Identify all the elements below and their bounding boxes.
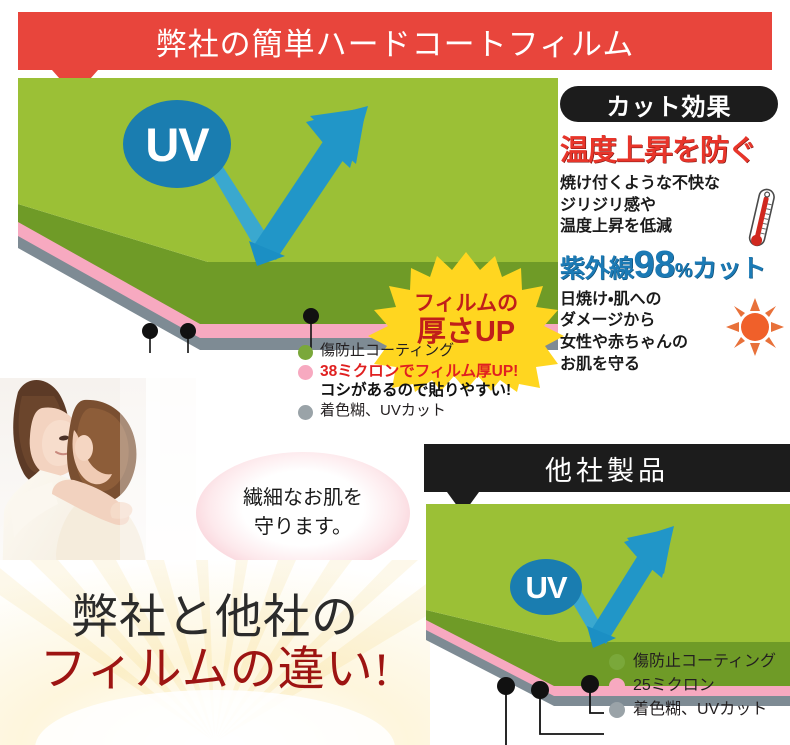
uv-cut-percent: % bbox=[675, 260, 692, 283]
uv-badge-label: UV bbox=[145, 121, 208, 168]
callout-item-coating: 傷防止コーティング bbox=[609, 652, 790, 672]
callout-item-adhesive: 着色糊、UVカット bbox=[298, 402, 558, 421]
sun-icon bbox=[726, 298, 784, 356]
callout-label: 着色糊、UVカット bbox=[320, 402, 446, 421]
green-dot-icon bbox=[298, 345, 313, 360]
uv-badge: UV bbox=[123, 100, 231, 188]
thermometer-icon bbox=[742, 186, 782, 252]
callout-label: 25ミクロン bbox=[633, 676, 715, 696]
temperature-heading: 温度上昇を防ぐ bbox=[560, 127, 786, 169]
callout-label: 傷防止コーティング bbox=[633, 652, 776, 672]
page-title: 弊社の簡単ハードコートフィルム bbox=[156, 19, 635, 64]
gray-dot-icon bbox=[298, 405, 313, 420]
main-film-illustration: UV フィルムの 厚さUP bbox=[10, 78, 558, 353]
callout-item-thickness: 25ミクロン bbox=[609, 676, 790, 696]
competitor-callout-list: 傷防止コーティング 25ミクロン 着色糊、UVカット bbox=[609, 652, 790, 724]
callout-label: 着色糊、UVカット bbox=[633, 700, 767, 720]
callout-item-adhesive: 着色糊、UVカット bbox=[609, 700, 790, 720]
uv-cut-number: 98 bbox=[634, 248, 675, 282]
cut-effect-pill-label: カット効果 bbox=[607, 87, 732, 122]
top-banner: 弊社の簡単ハードコートフィルム bbox=[18, 12, 772, 70]
comparison-headline: 弊社と他社の フィルムの違い! bbox=[0, 594, 430, 697]
bubble-line-1: 繊細なお肌を bbox=[243, 484, 363, 513]
starburst-line-2: 厚さUP bbox=[417, 316, 515, 349]
bubble-line-2: 守ります。 bbox=[254, 513, 352, 542]
starburst-line-1: フィルムの bbox=[414, 292, 518, 316]
skin-protection-bubble: 繊細なお肌を 守ります。 bbox=[196, 452, 410, 574]
cut-effect-pill-badge: カット効果 bbox=[560, 86, 778, 122]
gray-dot-icon bbox=[609, 702, 625, 718]
uv-cut-heading: 紫外線 98 % カット bbox=[560, 248, 786, 285]
uv-cut-suffix: カット bbox=[692, 249, 766, 285]
competitor-header-label: 他社製品 bbox=[545, 449, 669, 488]
competitor-uv-badge-label: UV bbox=[525, 572, 566, 603]
headline-line-2: フィルムの違い! bbox=[0, 645, 430, 697]
competitor-product-panel: 他社製品 bbox=[424, 444, 790, 745]
starburst-text: フィルムの 厚さUP bbox=[368, 250, 564, 392]
competitor-header-bar: 他社製品 bbox=[424, 444, 790, 492]
thickness-up-starburst-badge: フィルムの 厚さUP bbox=[368, 250, 564, 392]
uv-cut-prefix: 紫外線 bbox=[560, 249, 634, 285]
pink-dot-icon bbox=[298, 365, 313, 380]
uv-cut-body-line-4: お肌を守る bbox=[560, 354, 786, 376]
headline-line-1: 弊社と他社の bbox=[0, 594, 430, 643]
cut-effect-panel: カット効果 温度上昇を防ぐ 焼け付くような不快な ジリジリ感や 温度上昇を低減 … bbox=[560, 86, 786, 375]
green-dot-icon bbox=[609, 654, 625, 670]
competitor-uv-badge: UV bbox=[510, 559, 582, 615]
pink-dot-icon bbox=[609, 678, 625, 694]
infographic-root: 弊社の簡単ハードコートフィルム bbox=[0, 0, 790, 745]
